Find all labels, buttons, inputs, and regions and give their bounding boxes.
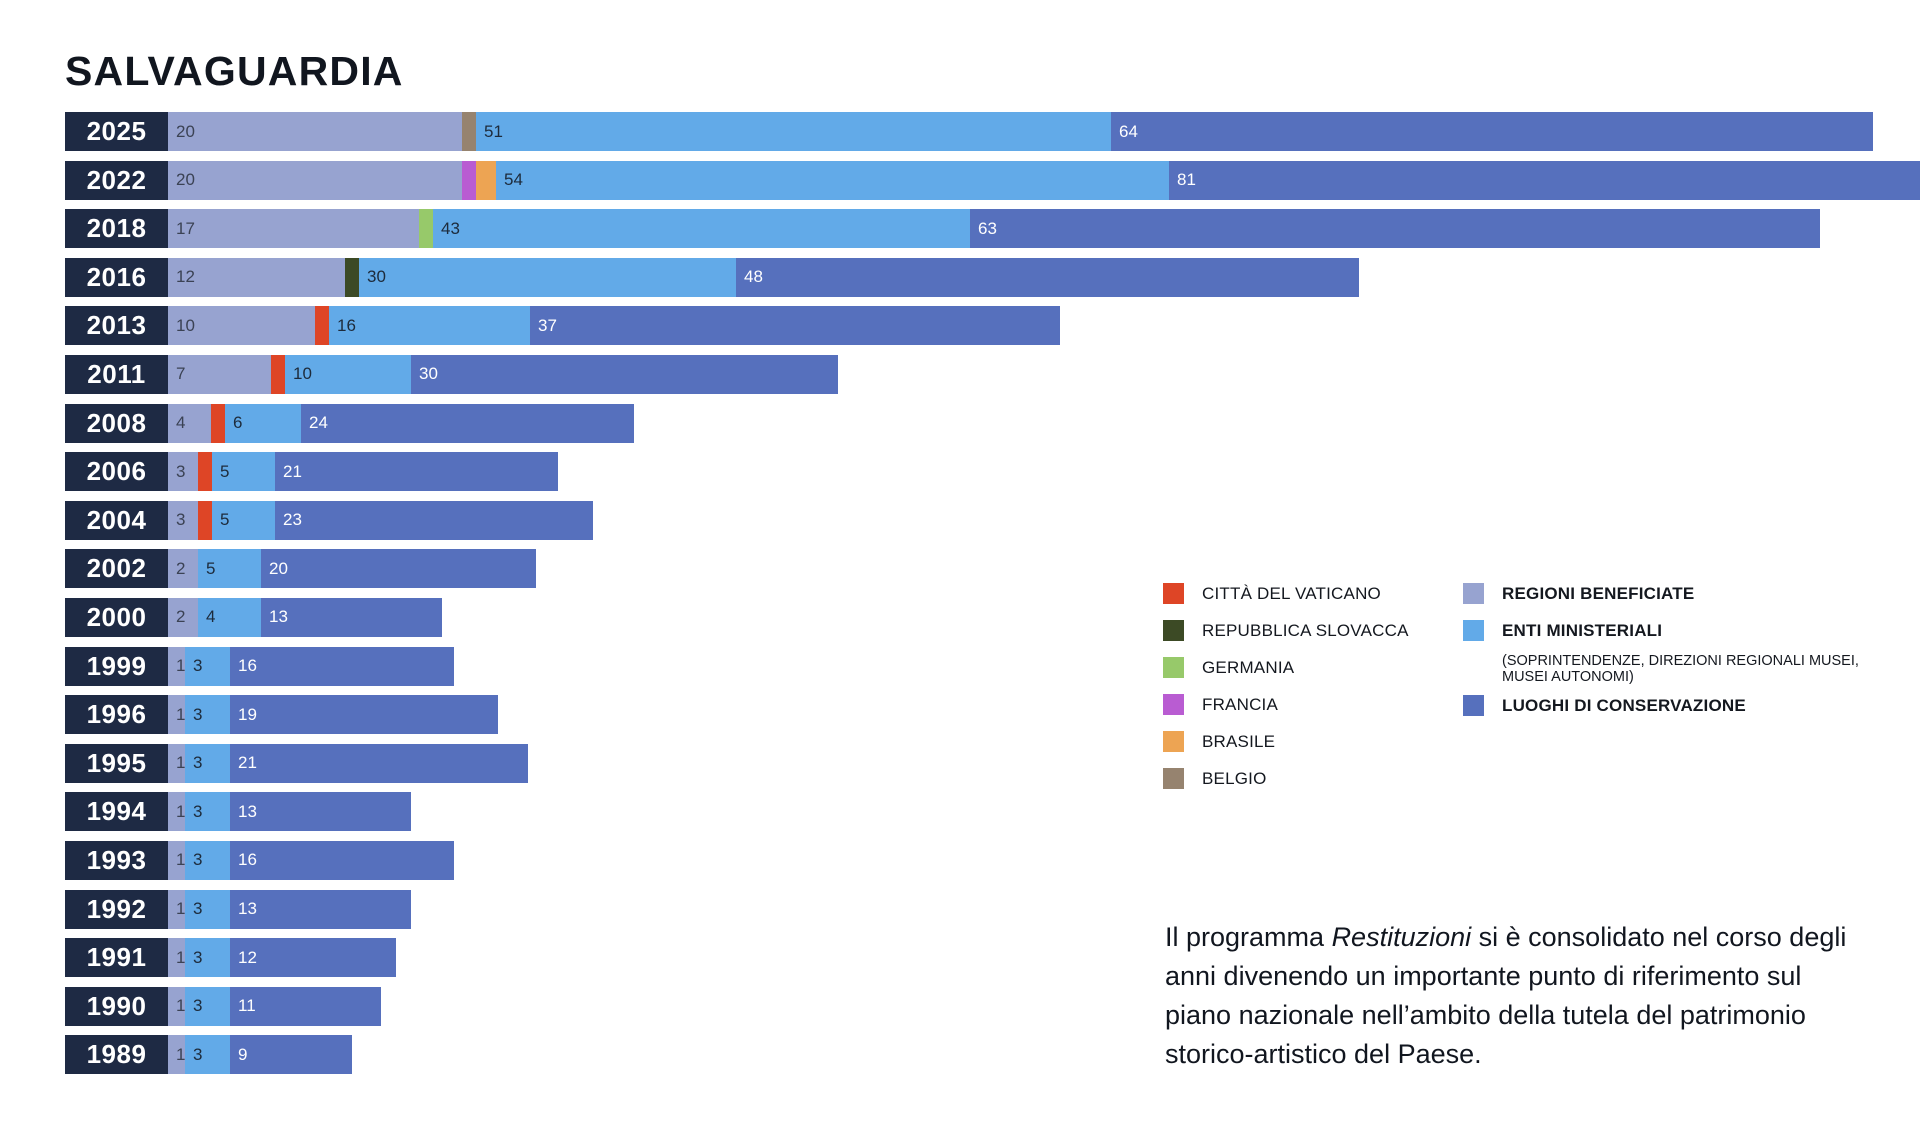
bar-stack: 71030 [168,355,838,394]
bar-value-label: 5 [198,559,215,579]
legend-item[interactable]: BELGIO [1163,768,1463,789]
chart-row: 2016123048 [65,258,1920,297]
bar-segment-regioni: 17 [168,209,419,248]
year-label-2025: 2025 [65,112,168,151]
bar-segment-enti: 54 [496,161,1169,200]
legend-item[interactable]: GERMANIA [1163,657,1463,678]
legend-swatch-francia-icon [1163,694,1184,715]
bar-value-label: 21 [230,753,257,773]
bar-value-label: 81 [1169,170,1196,190]
bar-segment-luoghi: 9 [230,1035,352,1074]
bar-segment-regioni: 2 [168,598,198,637]
bar-stack: 1316 [168,841,454,880]
bar-segment-enti: 3 [185,647,230,686]
bar-value-label: 3 [185,996,202,1016]
bar-segment-germania [419,209,433,248]
legend-sublabel: (SOPRINTENDENZE, DIREZIONI REGIONALI MUS… [1502,653,1863,685]
bar-value-label: 12 [168,267,195,287]
year-label-2022: 2022 [65,161,168,200]
legend-label: ENTI MINISTERIALI [1502,620,1662,641]
legend-label: BRASILE [1202,731,1275,752]
bar-segment-enti: 5 [212,501,275,540]
chart-legend: CITTÀ DEL VATICANOREPUBBLICA SLOVACCAGER… [1163,583,1863,805]
chart-row: 19931316 [65,841,1920,880]
bar-stack: 101637 [168,306,1060,345]
bar-value-label: 13 [230,899,257,919]
year-label-1996: 1996 [65,695,168,734]
bar-segment-vaticano [315,306,329,345]
legend-label: CITTÀ DEL VATICANO [1202,583,1381,604]
bar-value-label: 3 [168,510,185,530]
bar-stack: 1312 [168,938,396,977]
bar-segment-luoghi: 19 [230,695,498,734]
year-label-1990: 1990 [65,987,168,1026]
year-label-2011: 2011 [65,355,168,394]
chart-row: 2025205164 [65,112,1920,151]
bar-segment-regioni: 10 [168,306,315,345]
bar-value-label: 5 [212,510,229,530]
bar-value-label: 48 [736,267,763,287]
bar-segment-regioni: 20 [168,112,462,151]
bar-segment-regioni: 20 [168,161,462,200]
bar-segment-enti: 43 [433,209,970,248]
chart-row: 2013101637 [65,306,1920,345]
bar-segment-luoghi: 63 [970,209,1820,248]
bar-stack: 205164 [168,112,1873,151]
bar-value-label: 13 [230,802,257,822]
year-label-2006: 2006 [65,452,168,491]
legend-swatch-enti-icon [1463,620,1484,641]
bar-segment-luoghi: 64 [1111,112,1873,151]
bar-value-label: 3 [185,802,202,822]
bar-value-label: 1 [168,802,185,822]
year-label-1991: 1991 [65,938,168,977]
blurb-italic-program-name: Restituzioni [1332,922,1472,952]
bar-segment-luoghi: 23 [275,501,593,540]
bar-segment-slovacca [345,258,359,297]
bar-segment-enti: 3 [185,792,230,831]
bar-value-label: 10 [285,364,312,384]
bar-segment-regioni: 3 [168,501,198,540]
legend-item[interactable]: LUOGHI DI CONSERVAZIONE [1463,695,1863,716]
bar-stack: 3521 [168,452,558,491]
bar-value-label: 12 [230,948,257,968]
bar-value-label: 2 [168,559,185,579]
bar-value-label: 1 [168,656,185,676]
bar-stack: 1313 [168,792,411,831]
bar-value-label: 3 [185,850,202,870]
year-label-1993: 1993 [65,841,168,880]
bar-segment-regioni: 1 [168,1035,185,1074]
bar-segment-enti: 4 [198,598,261,637]
bar-segment-enti: 30 [359,258,736,297]
bar-value-label: 3 [185,1045,202,1065]
year-label-2018: 2018 [65,209,168,248]
bar-value-label: 7 [168,364,185,384]
year-label-2000: 2000 [65,598,168,637]
bar-segment-luoghi: 37 [530,306,1060,345]
bar-stack: 4624 [168,404,634,443]
bar-value-label: 3 [185,705,202,725]
bar-stack: 1319 [168,695,498,734]
bar-segment-vaticano [211,404,225,443]
bar-value-label: 64 [1111,122,1138,142]
bar-value-label: 16 [329,316,356,336]
legend-swatch-germania-icon [1163,657,1184,678]
year-label-1995: 1995 [65,744,168,783]
legend-column-countries: CITTÀ DEL VATICANOREPUBBLICA SLOVACCAGER… [1163,583,1463,805]
chart-row: 20084624 [65,404,1920,443]
legend-label: LUOGHI DI CONSERVAZIONE [1502,695,1746,716]
bar-segment-enti: 6 [225,404,301,443]
bar-segment-vaticano [198,452,212,491]
bar-value-label: 11 [230,996,256,1016]
bar-stack: 123048 [168,258,1359,297]
bar-value-label: 20 [168,170,195,190]
bar-segment-luoghi: 30 [411,355,838,394]
bar-value-label: 1 [168,850,185,870]
bar-value-label: 17 [168,219,195,239]
bar-segment-vaticano [198,501,212,540]
bar-segment-regioni: 1 [168,647,185,686]
legend-label: FRANCIA [1202,694,1278,715]
bar-value-label: 16 [230,850,257,870]
chart-row: 20063521 [65,452,1920,491]
bar-segment-luoghi: 12 [230,938,396,977]
bar-segment-luoghi: 20 [261,549,536,588]
bar-segment-enti: 3 [185,841,230,880]
bar-value-label: 4 [168,413,185,433]
bar-value-label: 3 [185,948,202,968]
bar-segment-regioni: 1 [168,938,185,977]
bar-segment-luoghi: 16 [230,841,454,880]
bar-value-label: 2 [168,607,185,627]
year-label-2004: 2004 [65,501,168,540]
legend-item[interactable]: ENTI MINISTERIALI [1463,620,1863,641]
bar-segment-enti: 10 [285,355,411,394]
bar-value-label: 54 [496,170,523,190]
legend-label: REPUBBLICA SLOVACCA [1202,620,1409,641]
bar-value-label: 1 [168,899,185,919]
bar-segment-enti: 16 [329,306,530,345]
bar-segment-regioni: 1 [168,841,185,880]
bar-stack: 1321 [168,744,528,783]
bar-value-label: 24 [301,413,328,433]
legend-swatch-regioni-icon [1463,583,1484,604]
bar-value-label: 16 [230,656,257,676]
legend-item[interactable]: BRASILE [1163,731,1463,752]
legend-item[interactable]: FRANCIA [1163,694,1463,715]
bar-segment-luoghi: 16 [230,647,454,686]
year-label-2008: 2008 [65,404,168,443]
legend-item[interactable]: CITTÀ DEL VATICANO [1163,583,1463,604]
legend-swatch-vaticano-icon [1163,583,1184,604]
bar-value-label: 5 [212,462,229,482]
bar-segment-regioni: 1 [168,695,185,734]
bar-value-label: 43 [433,219,460,239]
bar-segment-enti: 5 [198,549,261,588]
bar-segment-luoghi: 13 [261,598,442,637]
bar-value-label: 6 [225,413,242,433]
bar-segment-enti: 3 [185,987,230,1026]
bar-value-label: 30 [411,364,438,384]
bar-segment-luoghi: 11 [230,987,381,1026]
year-label-1999: 1999 [65,647,168,686]
legend-item[interactable]: REGIONI BENEFICIATE [1463,583,1863,604]
bar-value-label: 63 [970,219,997,239]
bar-segment-luoghi: 13 [230,792,411,831]
bar-segment-luoghi: 24 [301,404,634,443]
bar-value-label: 9 [230,1045,247,1065]
bar-stack: 174363 [168,209,1820,248]
bar-segment-francia [462,161,476,200]
bar-segment-enti: 3 [185,744,230,783]
bar-value-label: 51 [476,122,503,142]
bar-segment-enti: 3 [185,938,230,977]
legend-label: REGIONI BENEFICIATE [1502,583,1694,604]
legend-column-categories: REGIONI BENEFICIATEENTI MINISTERIALI(SOP… [1463,583,1863,805]
bar-value-label: 1 [168,1045,185,1065]
bar-segment-brasile [476,161,496,200]
page-title: SALVAGUARDIA [65,48,404,95]
legend-item[interactable]: REPUBBLICA SLOVACCA [1163,620,1463,641]
bar-stack: 1313 [168,890,411,929]
description-paragraph: Il programma Restituzioni si è consolida… [1165,918,1865,1074]
bar-stack: 1311 [168,987,381,1026]
bar-stack: 2520 [168,549,536,588]
bar-segment-vaticano [271,355,285,394]
bar-value-label: 37 [530,316,557,336]
bar-value-label: 13 [261,607,288,627]
bar-stack: 205481 [168,161,1920,200]
bar-segment-regioni: 1 [168,987,185,1026]
bar-value-label: 1 [168,996,185,1016]
year-label-1992: 1992 [65,890,168,929]
year-label-2016: 2016 [65,258,168,297]
bar-segment-regioni: 1 [168,744,185,783]
bar-stack: 3523 [168,501,593,540]
bar-value-label: 20 [168,122,195,142]
bar-value-label: 1 [168,753,185,773]
year-label-2013: 2013 [65,306,168,345]
bar-segment-luoghi: 21 [230,744,528,783]
bar-value-label: 30 [359,267,386,287]
bar-segment-enti: 3 [185,695,230,734]
bar-segment-luoghi: 13 [230,890,411,929]
bar-value-label: 10 [168,316,195,336]
bar-value-label: 3 [185,656,202,676]
bar-segment-enti: 51 [476,112,1111,151]
bar-value-label: 3 [168,462,185,482]
legend-swatch-brasile-icon [1163,731,1184,752]
legend-swatch-slovacca-icon [1163,620,1184,641]
bar-value-label: 3 [185,899,202,919]
bar-stack: 1316 [168,647,454,686]
chart-row: 20043523 [65,501,1920,540]
bar-segment-luoghi: 21 [275,452,558,491]
year-label-2002: 2002 [65,549,168,588]
bar-segment-enti: 5 [212,452,275,491]
bar-segment-regioni: 4 [168,404,211,443]
bar-stack: 2413 [168,598,442,637]
bar-value-label: 23 [275,510,302,530]
year-label-1994: 1994 [65,792,168,831]
bar-value-label: 1 [168,705,185,725]
bar-value-label: 20 [261,559,288,579]
bar-value-label: 21 [275,462,302,482]
legend-label: GERMANIA [1202,657,1294,678]
bar-segment-luoghi: 81 [1169,161,1920,200]
bar-segment-luoghi: 48 [736,258,1359,297]
bar-segment-enti: 3 [185,1035,230,1074]
legend-swatch-belgio-icon [1163,768,1184,789]
legend-swatch-luoghi-icon [1463,695,1484,716]
bar-segment-regioni: 1 [168,792,185,831]
chart-row: 201171030 [65,355,1920,394]
bar-segment-regioni: 12 [168,258,345,297]
chart-row: 2022205481 [65,161,1920,200]
bar-value-label: 4 [198,607,215,627]
bar-segment-regioni: 1 [168,890,185,929]
legend-label: BELGIO [1202,768,1267,789]
bar-stack: 139 [168,1035,352,1074]
bar-value-label: 19 [230,705,257,725]
chart-row: 2018174363 [65,209,1920,248]
bar-segment-regioni: 7 [168,355,271,394]
bar-value-label: 3 [185,753,202,773]
bar-segment-enti: 3 [185,890,230,929]
bar-segment-regioni: 3 [168,452,198,491]
bar-segment-belgio [462,112,476,151]
year-label-1989: 1989 [65,1035,168,1074]
bar-segment-regioni: 2 [168,549,198,588]
bar-value-label: 1 [168,948,185,968]
blurb-part1: Il programma [1165,922,1332,952]
